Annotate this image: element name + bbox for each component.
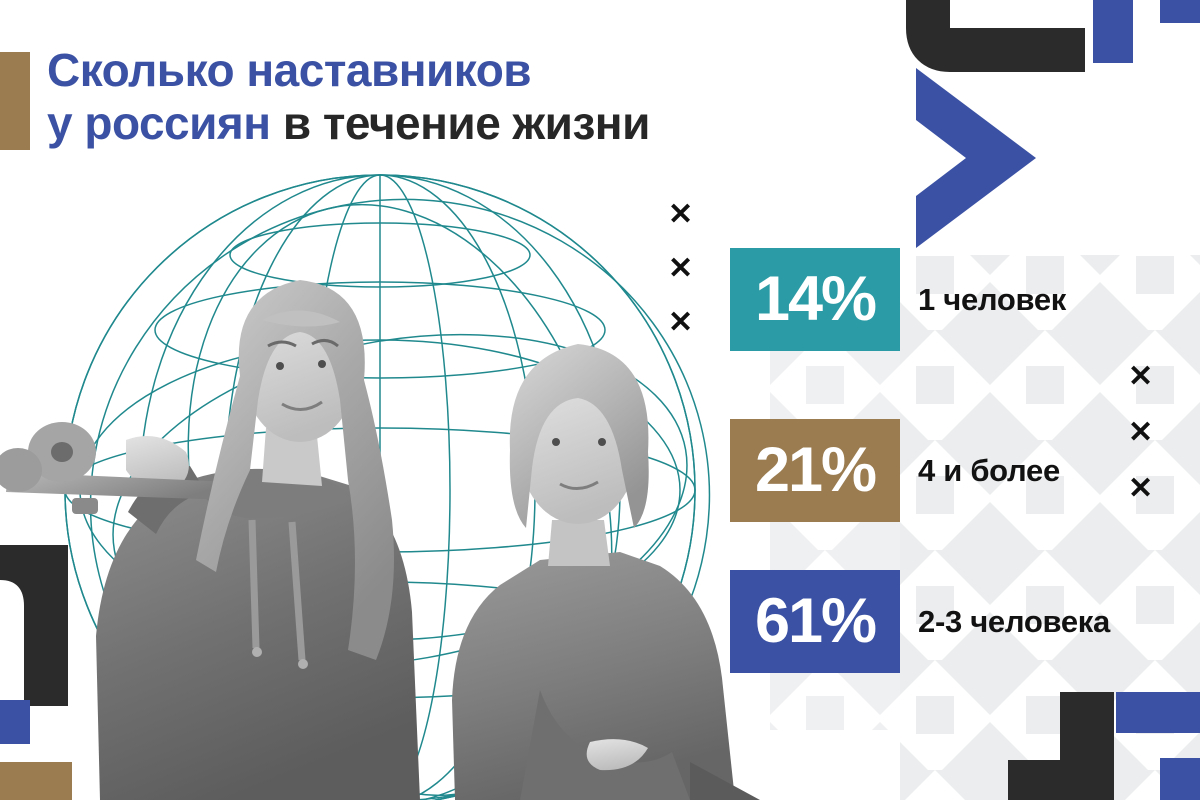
page-title: Сколько наставников у россиян в течение …: [47, 44, 807, 151]
stat-percent: 61%: [755, 590, 875, 653]
infographic-poster: Сколько наставников у россиян в течение …: [0, 0, 1200, 800]
x-mark-icon: ✕: [1128, 474, 1153, 504]
x-marks-column-right: ✕ ✕ ✕: [1128, 362, 1153, 530]
stat-value-box: 21%: [730, 419, 900, 522]
x-mark-icon: ✕: [668, 308, 693, 338]
title-rest-text: в течение жизни: [283, 97, 650, 149]
x-mark-icon: ✕: [668, 200, 693, 230]
title-highlight-text: у россиян: [47, 97, 271, 149]
stat-label: 1 человек: [918, 282, 1066, 318]
stat-percent: 14%: [755, 268, 875, 331]
stat-percent: 21%: [755, 439, 875, 502]
poster-content: Сколько наставников у россиян в течение …: [0, 0, 1200, 800]
x-marks-column-left: ✕ ✕ ✕: [668, 200, 693, 362]
stat-label: 2-3 человека: [918, 604, 1110, 640]
stat-value-box: 14%: [730, 248, 900, 351]
x-mark-icon: ✕: [1128, 362, 1153, 392]
x-mark-icon: ✕: [1128, 418, 1153, 448]
stat-row: 61% 2-3 человека: [730, 570, 1110, 673]
stat-value-box: 61%: [730, 570, 900, 673]
title-line-1: Сколько наставников: [47, 44, 807, 97]
title-line-1-text: Сколько наставников: [47, 44, 531, 96]
stat-row: 14% 1 человек: [730, 248, 1066, 351]
x-mark-icon: ✕: [668, 254, 693, 284]
title-line-2: у россиян в течение жизни: [47, 97, 807, 150]
stat-label: 4 и более: [918, 453, 1060, 489]
stat-row: 21% 4 и более: [730, 419, 1060, 522]
